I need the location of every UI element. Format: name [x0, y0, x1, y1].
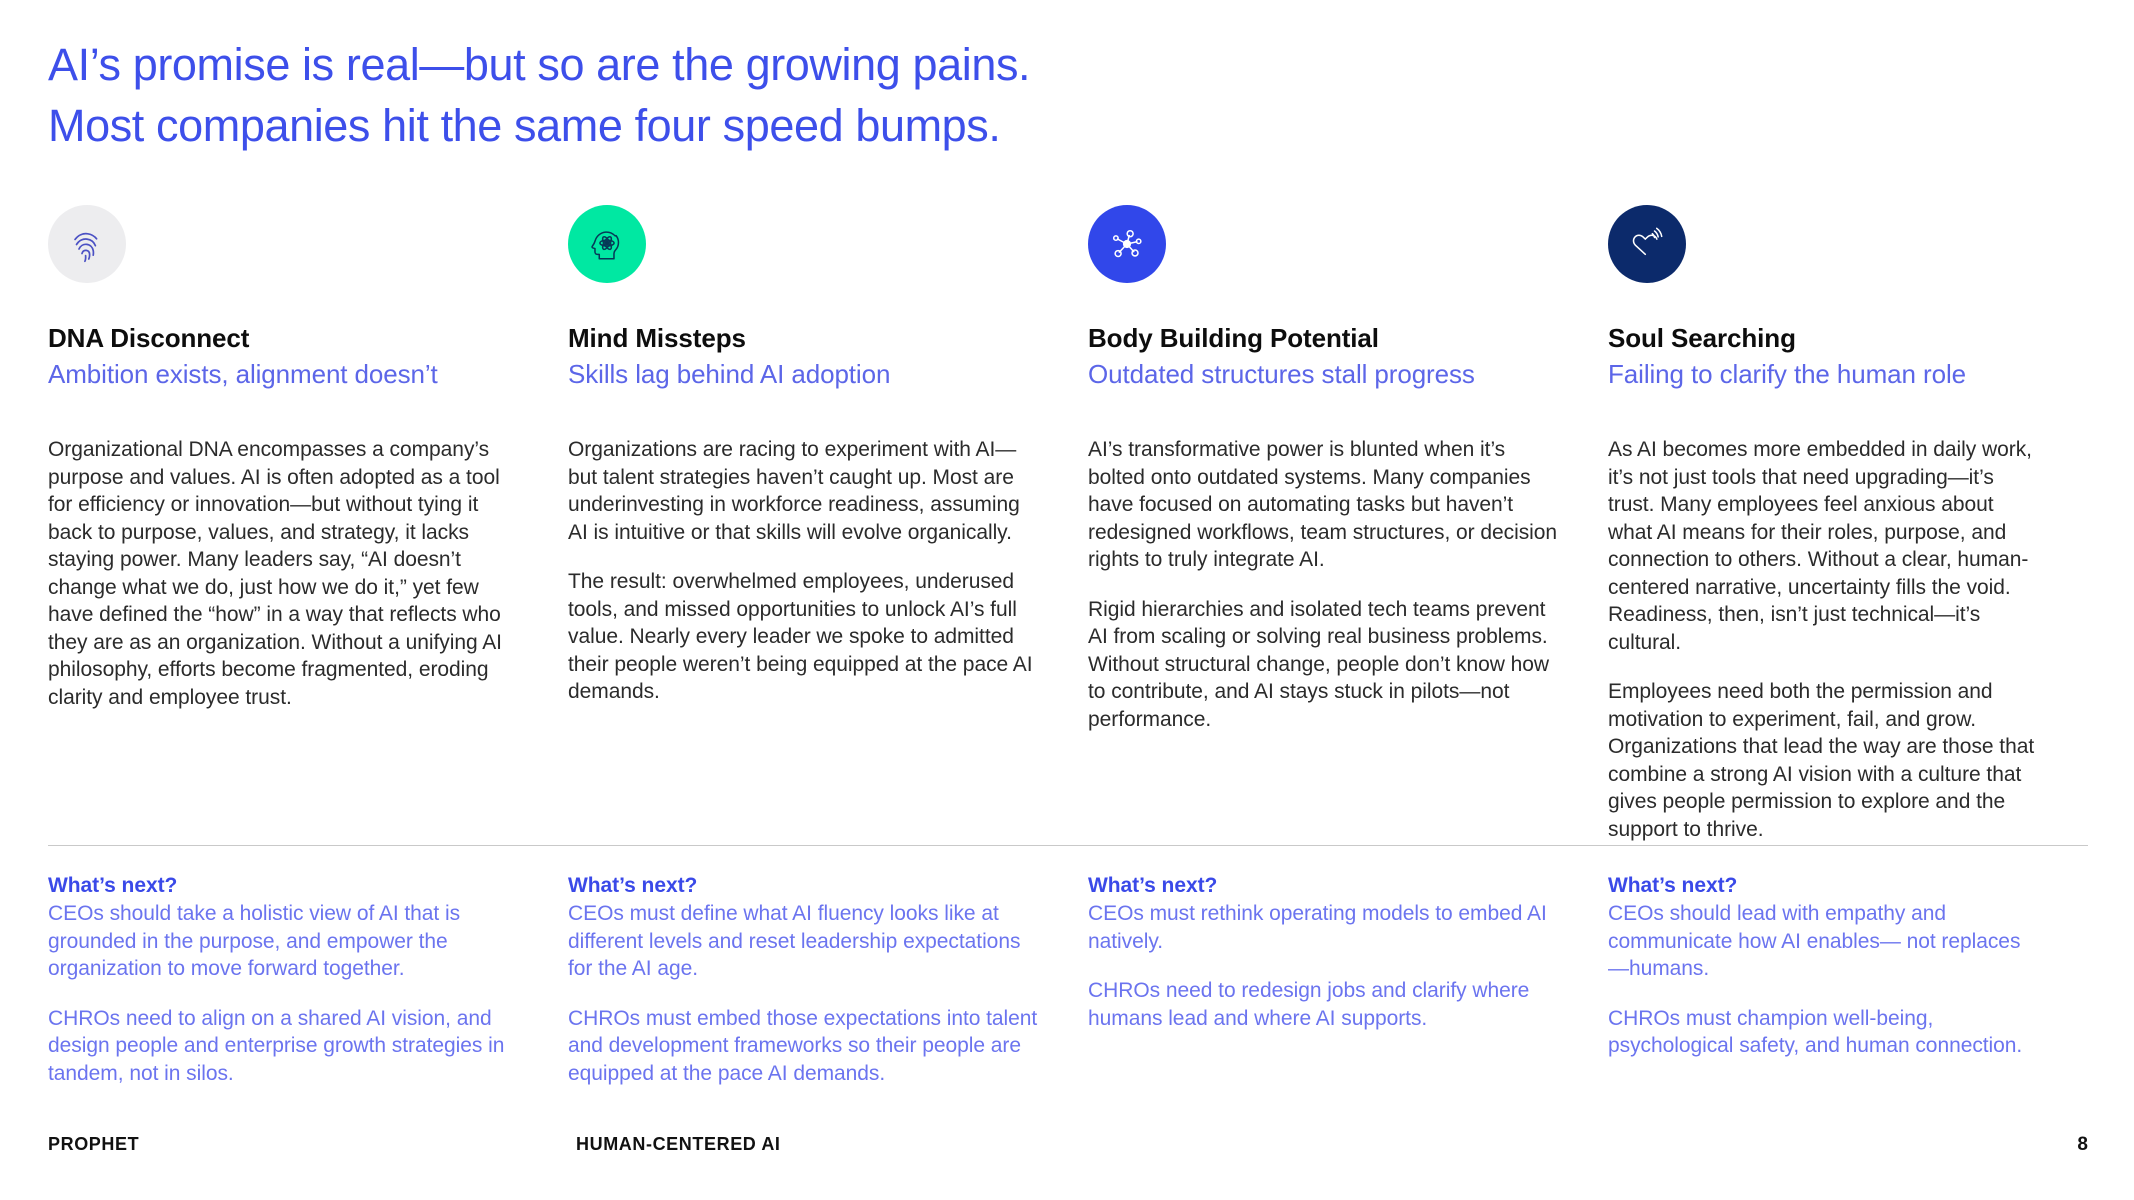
headline-line-1: AI’s promise is real—but so are the grow…: [48, 34, 1548, 95]
column-body-building-potential: Body Building Potential Outdated structu…: [1088, 205, 1608, 843]
body-paragraph: As AI becomes more embedded in daily wor…: [1608, 436, 2040, 656]
whats-next-paragraph: CEOs should take a holistic view of AI t…: [48, 900, 520, 983]
whats-next-paragraph: CHROs need to redesign jobs and clarify …: [1088, 977, 1560, 1032]
page-title: AI’s promise is real—but so are the grow…: [48, 34, 1548, 156]
body-paragraph: Employees need both the permission and m…: [1608, 678, 2040, 843]
body-paragraph: Rigid hierarchies and isolated tech team…: [1088, 596, 1560, 734]
column-title: Body Building Potential: [1088, 321, 1560, 355]
whats-next-body-building-potential: What’s next? CEOs must rethink operating…: [1088, 872, 1608, 1087]
column-subtitle: Failing to clarify the human role: [1608, 357, 2040, 391]
whats-next-paragraph: CHROs must champion well-being, psycholo…: [1608, 1005, 2040, 1060]
column-title: DNA Disconnect: [48, 321, 520, 355]
body-paragraph: Organizations are racing to experiment w…: [568, 436, 1040, 546]
column-subtitle: Ambition exists, alignment doesn’t: [48, 357, 520, 391]
whats-next-paragraph: CEOs should lead with empathy and commun…: [1608, 900, 2040, 983]
head-atom-icon: [568, 205, 646, 283]
whats-next-paragraph: CHROs must embed those expectations into…: [568, 1005, 1040, 1088]
body-paragraph: AI’s transformative power is blunted whe…: [1088, 436, 1560, 574]
column-subtitle: Skills lag behind AI adoption: [568, 357, 1040, 391]
column-body: Organizational DNA encompasses a company…: [48, 436, 520, 711]
column-title: Mind Missteps: [568, 321, 1040, 355]
footer-section-label: HUMAN-CENTERED AI: [576, 1134, 781, 1155]
column-dna-disconnect: DNA Disconnect Ambition exists, alignmen…: [48, 205, 568, 843]
slide: AI’s promise is real—but so are the grow…: [0, 0, 2134, 1200]
section-divider: [48, 845, 2088, 846]
body-paragraph: Organizational DNA encompasses a company…: [48, 436, 520, 711]
whats-next-heading: What’s next?: [568, 872, 1040, 900]
whats-next-heading: What’s next?: [48, 872, 520, 900]
column-body: As AI becomes more embedded in daily wor…: [1608, 436, 2040, 843]
whats-next-heading: What’s next?: [1608, 872, 2040, 900]
column-body: Organizations are racing to experiment w…: [568, 436, 1040, 706]
fingerprint-icon: [48, 205, 126, 283]
whats-next-row: What’s next? CEOs should take a holistic…: [48, 872, 2088, 1087]
column-mind-missteps: Mind Missteps Skills lag behind AI adopt…: [568, 205, 1088, 843]
whats-next-paragraph: CEOs must rethink operating models to em…: [1088, 900, 1560, 955]
whats-next-mind-missteps: What’s next? CEOs must define what AI fl…: [568, 872, 1088, 1087]
footer-brand: PROPHET: [48, 1134, 139, 1155]
body-paragraph: The result: overwhelmed employees, under…: [568, 568, 1040, 706]
whats-next-paragraph: CEOs must define what AI fluency looks l…: [568, 900, 1040, 983]
whats-next-dna-disconnect: What’s next? CEOs should take a holistic…: [48, 872, 568, 1087]
whats-next-paragraph: CHROs need to align on a shared AI visio…: [48, 1005, 520, 1088]
column-soul-searching: Soul Searching Failing to clarify the hu…: [1608, 205, 2088, 843]
headline-line-2: Most companies hit the same four speed b…: [48, 95, 1548, 156]
heart-signal-icon: [1608, 205, 1686, 283]
column-subtitle: Outdated structures stall progress: [1088, 357, 1560, 391]
footer: PROPHET HUMAN-CENTERED AI 8: [48, 1134, 2088, 1160]
page-number: 8: [2077, 1134, 2088, 1156]
column-body: AI’s transformative power is blunted whe…: [1088, 436, 1560, 733]
column-title: Soul Searching: [1608, 321, 2040, 355]
columns-grid: DNA Disconnect Ambition exists, alignmen…: [48, 205, 2088, 843]
network-hub-icon: [1088, 205, 1166, 283]
whats-next-soul-searching: What’s next? CEOs should lead with empat…: [1608, 872, 2088, 1087]
whats-next-heading: What’s next?: [1088, 872, 1560, 900]
